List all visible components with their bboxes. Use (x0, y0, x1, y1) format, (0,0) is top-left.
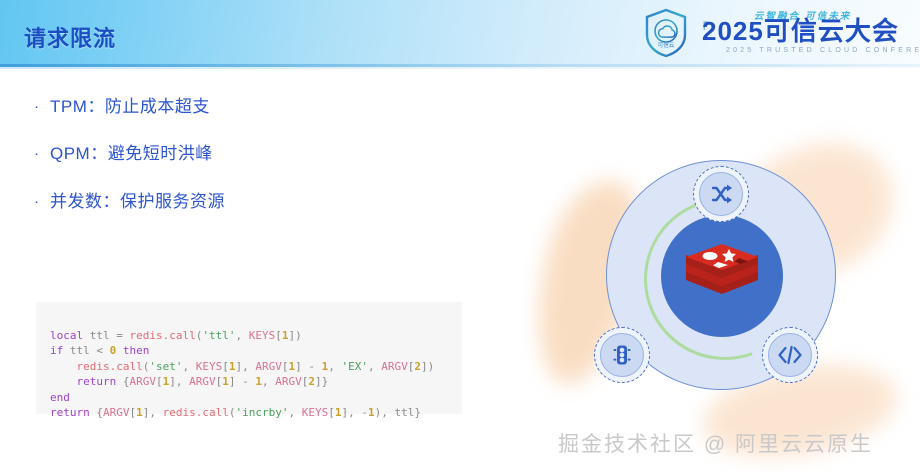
badge-code[interactable] (762, 327, 818, 383)
slide-root: 请求限流 可信云 云智融合 可信未来 「 2025可信云大会 2025 TRUS… (0, 0, 920, 472)
code-block: local ttl = redis.call('ttl', KEYS[1]) i… (36, 302, 462, 414)
watermark: 掘金技术社区 @ 阿里云云原生 (558, 428, 873, 458)
code-line: local ttl = redis.call('ttl', KEYS[1]) (50, 329, 302, 342)
code-content: local ttl = redis.call('ttl', KEYS[1]) i… (50, 312, 462, 436)
code-line: return {ARGV[1], redis.call('incrby', KE… (50, 406, 421, 419)
bullet-marker-icon: · (34, 96, 50, 117)
bullet-text: QPM：避免短时洪峰 (50, 143, 464, 164)
code-line: return {ARGV[1], ARGV[1] - 1, ARGV[2]} (50, 375, 328, 388)
redis-architecture-illustration (532, 140, 908, 440)
conference-logo-text: 云智融合 可信未来 「 2025可信云大会 2025 TRUSTED CLOUD… (696, 7, 906, 59)
list-item: · 并发数：保护服务资源 (34, 191, 464, 212)
code-brackets-icon (777, 343, 803, 367)
list-item: · TPM：防止成本超支 (34, 96, 464, 117)
list-item: · QPM：避免短时洪峰 (34, 143, 464, 164)
bullet-text: TPM：防止成本超支 (50, 96, 464, 117)
code-line: redis.call('set', KEYS[1], ARGV[1] - 1, … (50, 360, 434, 373)
redis-logo-icon (684, 240, 760, 312)
code-line: end (50, 391, 70, 404)
code-line: if ttl < 0 then (50, 344, 149, 357)
badge-inner (768, 333, 812, 377)
shield-logo-icon: 可信云 (644, 8, 688, 58)
badge-inner (699, 172, 743, 216)
bullet-marker-icon: · (34, 143, 50, 164)
badge-shuffle[interactable] (693, 166, 749, 222)
shuffle-icon (709, 182, 733, 206)
badge-traffic-light[interactable] (594, 327, 650, 383)
bullet-list: · TPM：防止成本超支 · QPM：避免短时洪峰 · 并发数：保护服务资源 (34, 96, 464, 238)
traffic-light-icon (610, 343, 634, 367)
logo-main-title: 2025可信云大会 (702, 18, 899, 44)
bullet-marker-icon: · (34, 191, 50, 212)
logo-subtitle: 2025 TRUSTED CLOUD CONFERENCE (726, 47, 920, 54)
header-divider-soft (0, 67, 920, 69)
bullet-text: 并发数：保护服务资源 (50, 191, 464, 212)
svg-text:可信云: 可信云 (658, 41, 675, 49)
badge-inner (600, 333, 644, 377)
conference-logo: 可信云 云智融合 可信未来 「 2025可信云大会 2025 TRUSTED C… (644, 6, 906, 60)
page-title: 请求限流 (24, 28, 116, 50)
